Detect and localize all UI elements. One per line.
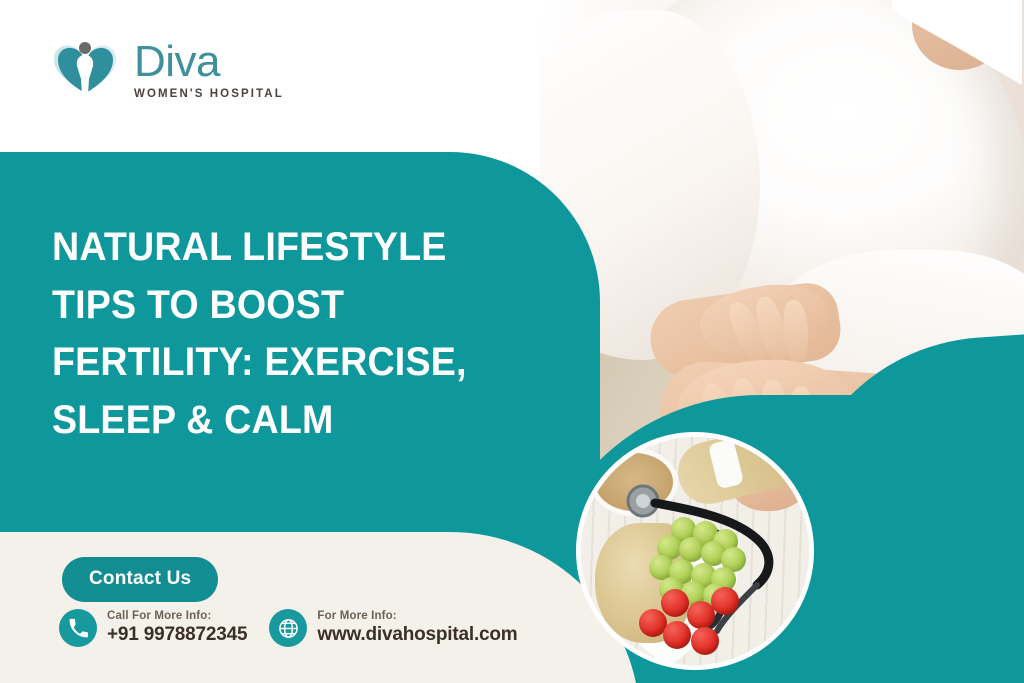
contact-us-button[interactable]: Contact Us bbox=[62, 557, 218, 602]
logo-tagline: WOMEN'S HOSPITAL bbox=[134, 89, 284, 101]
phone-icon bbox=[59, 609, 97, 647]
brand-logo[interactable]: Diva WOMEN'S HOSPITAL bbox=[48, 33, 284, 107]
website-label: For More Info: bbox=[317, 610, 517, 623]
phone-label: Call For More Info: bbox=[107, 610, 247, 623]
headline-line-4: SLEEP & CALM bbox=[52, 392, 494, 450]
inset-cherry-tomatoes bbox=[639, 587, 749, 657]
logo-wordmark: Diva bbox=[134, 40, 284, 84]
page-title: NATURAL LIFESTYLE TIPS TO BOOST FERTILIT… bbox=[52, 219, 494, 449]
headline-line-3: FERTILITY: EXERCISE, bbox=[52, 334, 494, 392]
website-url: www.divahospital.com bbox=[317, 624, 517, 645]
phone-contact[interactable]: Call For More Info: +91 9978872345 bbox=[59, 609, 247, 647]
healthy-food-inset-photo bbox=[576, 432, 814, 670]
website-contact[interactable]: For More Info: www.divahospital.com bbox=[269, 609, 517, 647]
globe-icon bbox=[269, 609, 307, 647]
phone-number: +91 9978872345 bbox=[107, 624, 247, 645]
headline-line-2: TIPS TO BOOST bbox=[52, 277, 494, 335]
headline-line-1: NATURAL LIFESTYLE bbox=[52, 219, 494, 277]
marketing-banner: Diva WOMEN'S HOSPITAL NATURAL LIFESTYLE … bbox=[0, 0, 1024, 683]
contact-info-row: Call For More Info: +91 9978872345 For M… bbox=[59, 609, 518, 647]
heart-woman-logo-icon bbox=[48, 33, 122, 107]
